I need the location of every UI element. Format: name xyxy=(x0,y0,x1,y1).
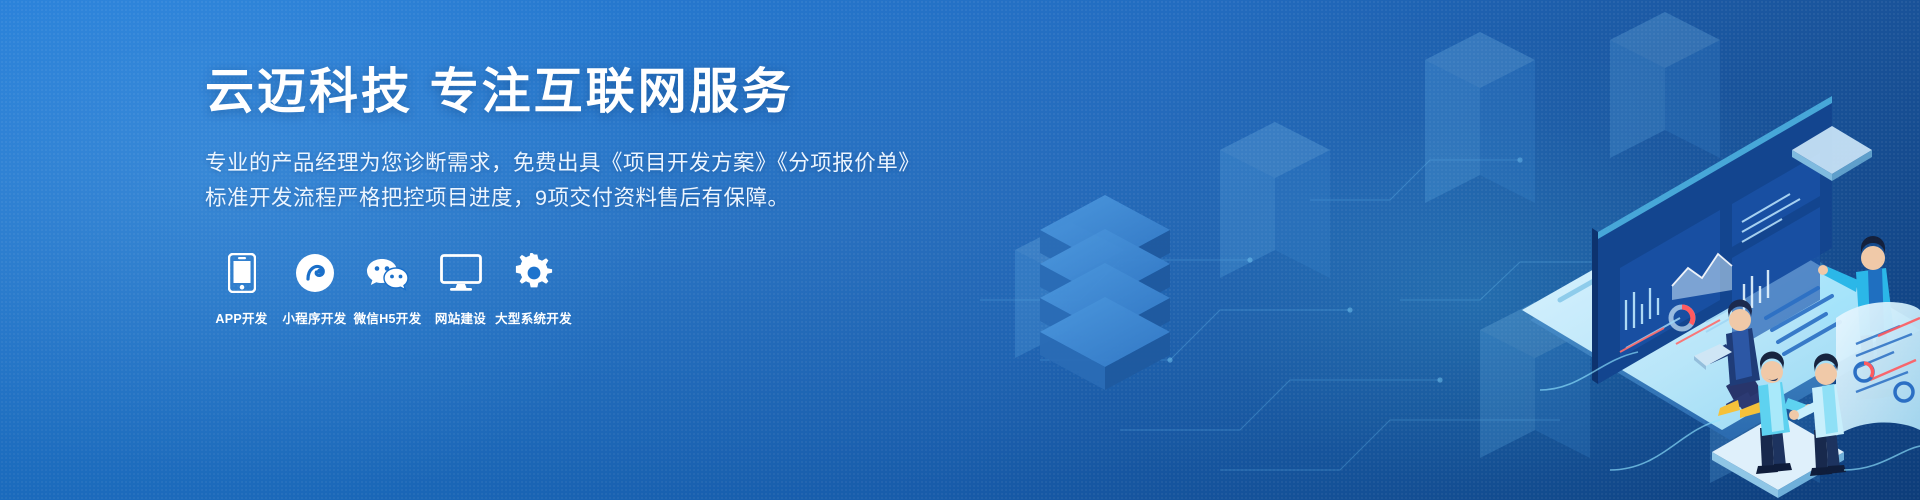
banner-content: 云迈科技 专注互联网服务 专业的产品经理为您诊断需求，免费出具《项目开发方案》《… xyxy=(205,66,905,327)
service-list: APP开发 小程序开发 xyxy=(205,252,905,327)
service-label: 微信H5开发 xyxy=(354,308,422,327)
service-label: 网站建设 xyxy=(435,308,486,327)
wechat-icon xyxy=(365,252,411,294)
gear-icon xyxy=(514,252,554,294)
mobile-phone-icon xyxy=(228,252,256,294)
service-label: APP开发 xyxy=(215,308,267,327)
service-item-mini-program[interactable]: 小程序开发 xyxy=(278,252,351,327)
service-item-website[interactable]: 网站建设 xyxy=(424,252,497,327)
service-item-app[interactable]: APP开发 xyxy=(205,252,278,327)
page-title: 云迈科技 专注互联网服务 xyxy=(205,66,905,120)
service-label: 大型系统开发 xyxy=(495,308,572,327)
mini-program-icon xyxy=(295,252,335,294)
promo-banner: 云迈科技 专注互联网服务 专业的产品经理为您诊断需求，免费出具《项目开发方案》《… xyxy=(0,0,1920,500)
service-item-large-system[interactable]: 大型系统开发 xyxy=(497,252,570,327)
subtitle-line-1: 专业的产品经理为您诊断需求，免费出具《项目开发方案》《分项报价单》 xyxy=(205,146,905,181)
service-item-wechat-h5[interactable]: 微信H5开发 xyxy=(351,252,424,327)
subtitle-line-2: 标准开发流程严格把控项目进度，9项交付资料售后有保障。 xyxy=(205,181,905,216)
service-label: 小程序开发 xyxy=(282,308,346,327)
isometric-tech-teamwork-illustration xyxy=(920,0,1920,500)
monitor-icon xyxy=(440,252,482,294)
